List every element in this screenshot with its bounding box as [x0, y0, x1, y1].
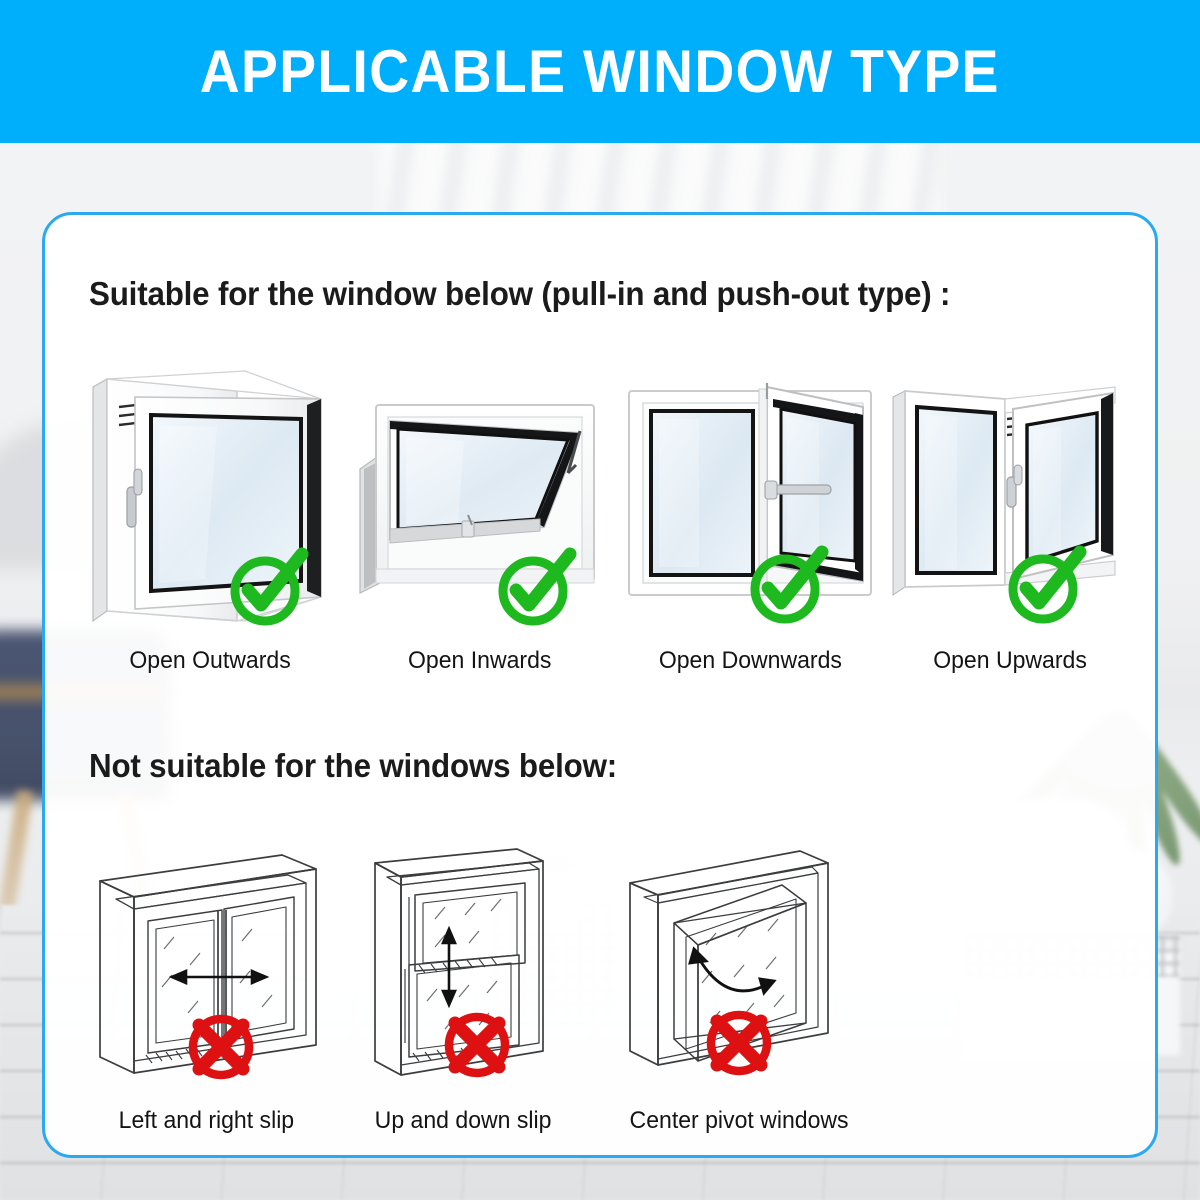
red-cross-circle-icon [435, 1001, 519, 1085]
suitable-item-open-outwards[interactable]: Open Outwards [75, 345, 345, 675]
not-suitable-item-up-down-slip[interactable]: Up and down slip [337, 805, 589, 1135]
suitable-label-open-inwards: Open Inwards [408, 647, 551, 675]
suitable-item-open-inwards[interactable]: Open Inwards [345, 345, 615, 675]
suitable-item-open-downwards[interactable]: Open Downwards [615, 345, 885, 675]
background-chair-leg-left [0, 789, 33, 910]
suitable-window-row: Open Outwards [75, 335, 1135, 675]
not-suitable-item-center-pivot[interactable]: Center pivot windows [589, 805, 889, 1135]
page-title: APPLICABLE WINDOW TYPE [200, 42, 1000, 102]
suitable-label-open-upwards: Open Upwards [933, 647, 1087, 675]
not-suitable-label-left-right-slip: Left and right slip [118, 1107, 293, 1135]
not-suitable-window-row: Left and right slip [75, 805, 915, 1135]
suitable-label-open-downwards: Open Downwards [658, 647, 841, 675]
header-banner: APPLICABLE WINDOW TYPE [0, 0, 1200, 143]
content-card: Suitable for the window below (pull-in a… [42, 212, 1158, 1158]
not-suitable-section-heading: Not suitable for the windows below: [89, 747, 617, 785]
not-suitable-label-up-down-slip: Up and down slip [375, 1107, 552, 1135]
suitable-label-open-outwards: Open Outwards [129, 647, 290, 675]
suitable-section-heading: Suitable for the window below (pull-in a… [89, 275, 950, 313]
green-check-circle-icon [745, 541, 831, 627]
green-check-circle-icon [225, 543, 311, 629]
not-suitable-item-left-right-slip[interactable]: Left and right slip [75, 805, 337, 1135]
red-cross-circle-icon [179, 1003, 263, 1087]
red-cross-circle-icon [697, 999, 781, 1083]
suitable-item-open-upwards[interactable]: Open Upwards [885, 345, 1135, 675]
not-suitable-label-center-pivot: Center pivot windows [629, 1107, 848, 1135]
green-check-circle-icon [1003, 541, 1089, 627]
green-check-circle-icon [493, 543, 579, 629]
infographic-page: APPLICABLE WINDOW TYPE Suitable for the … [0, 0, 1200, 1200]
